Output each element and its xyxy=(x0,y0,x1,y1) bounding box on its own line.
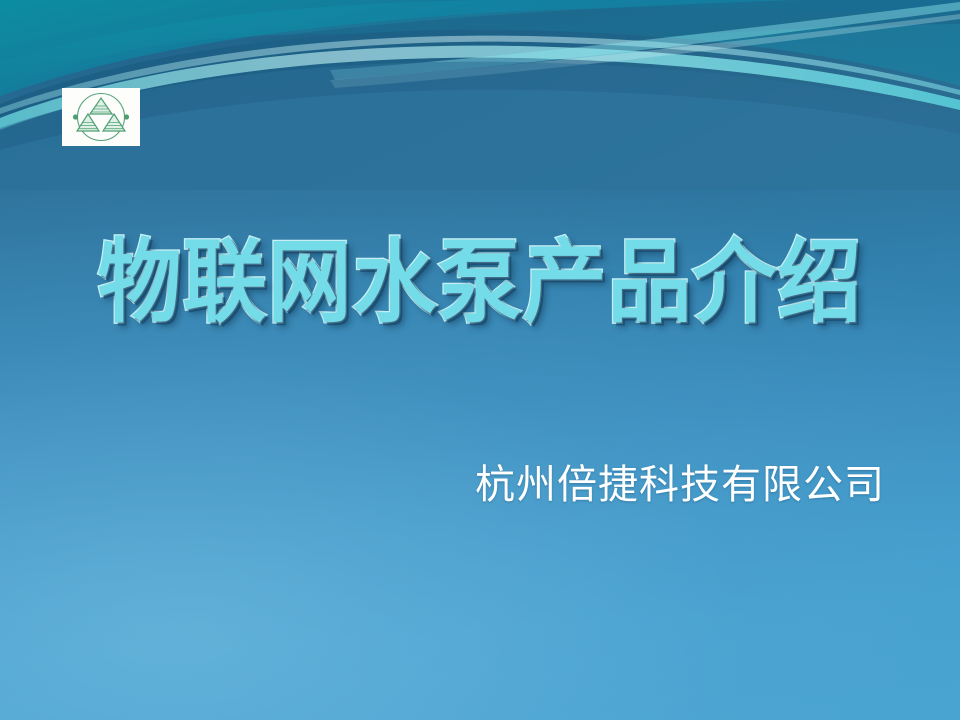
slide-subtitle-placeholder: 杭州倍捷科技有限公司 xyxy=(0,462,960,508)
flow-theme-wave-banner xyxy=(0,0,960,190)
company-logo xyxy=(62,88,140,146)
title-slide: 物联网水泵产品介绍 杭州倍捷科技有限公司 xyxy=(0,0,960,720)
slide-title-placeholder: 物联网水泵产品介绍 xyxy=(0,228,960,338)
logo-pyramid-left xyxy=(77,114,99,131)
logo-dot-right xyxy=(124,114,129,119)
logo-dot-left xyxy=(73,114,78,119)
company-name: 杭州倍捷科技有限公司 xyxy=(475,462,885,508)
logo-pyramid-right xyxy=(103,114,125,131)
page-title: 物联网水泵产品介绍 xyxy=(97,237,862,330)
logo-pyramid-top xyxy=(90,98,112,114)
